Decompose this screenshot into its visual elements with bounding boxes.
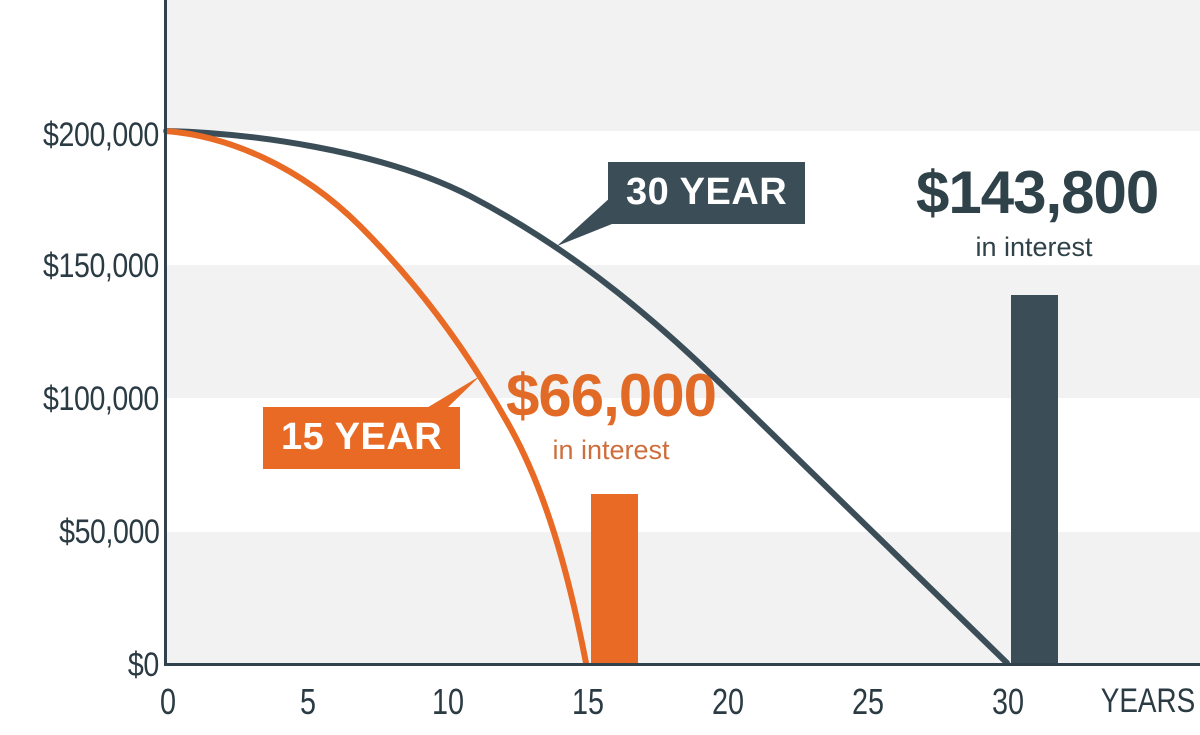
y-tick-label: $0 — [128, 648, 159, 682]
x-tick-label: 25 — [852, 684, 884, 720]
x-tick-label: 5 — [300, 684, 316, 720]
y-axis-line — [164, 0, 167, 666]
annotation-15-year: $66,000 in interest — [506, 366, 716, 464]
annotation-30-year: $143,800 in interest — [916, 163, 1152, 261]
annotation-30-year-amount: $143,800 — [916, 163, 1152, 223]
interest-comparison-chart: 30 YEAR 15 YEAR $143,800 in interest $66… — [0, 0, 1200, 735]
interest-bar-15-year — [591, 494, 638, 664]
annotation-15-year-caption: in interest — [506, 437, 716, 464]
y-tick-label: $50,000 — [59, 515, 159, 549]
x-tick-label: 30 — [992, 684, 1024, 720]
annotation-30-year-caption: in interest — [916, 234, 1152, 261]
y-tick-label: $100,000 — [43, 382, 159, 416]
callout-15-year[interactable]: 15 YEAR — [263, 407, 460, 469]
x-tick-label: 0 — [160, 684, 176, 720]
annotation-15-year-amount: $66,000 — [506, 366, 716, 426]
x-tick-label: 20 — [712, 684, 744, 720]
callout-30-year[interactable]: 30 YEAR — [608, 162, 805, 224]
interest-bar-30-year — [1011, 295, 1058, 664]
y-tick-label: $200,000 — [43, 118, 159, 152]
x-tick-label: 15 — [572, 684, 604, 720]
x-axis-line — [164, 663, 1200, 666]
background-band — [166, 0, 1200, 131]
x-tick-label: 10 — [432, 684, 464, 720]
y-tick-label: $150,000 — [43, 249, 159, 283]
x-axis-title: YEARS — [1101, 684, 1196, 718]
